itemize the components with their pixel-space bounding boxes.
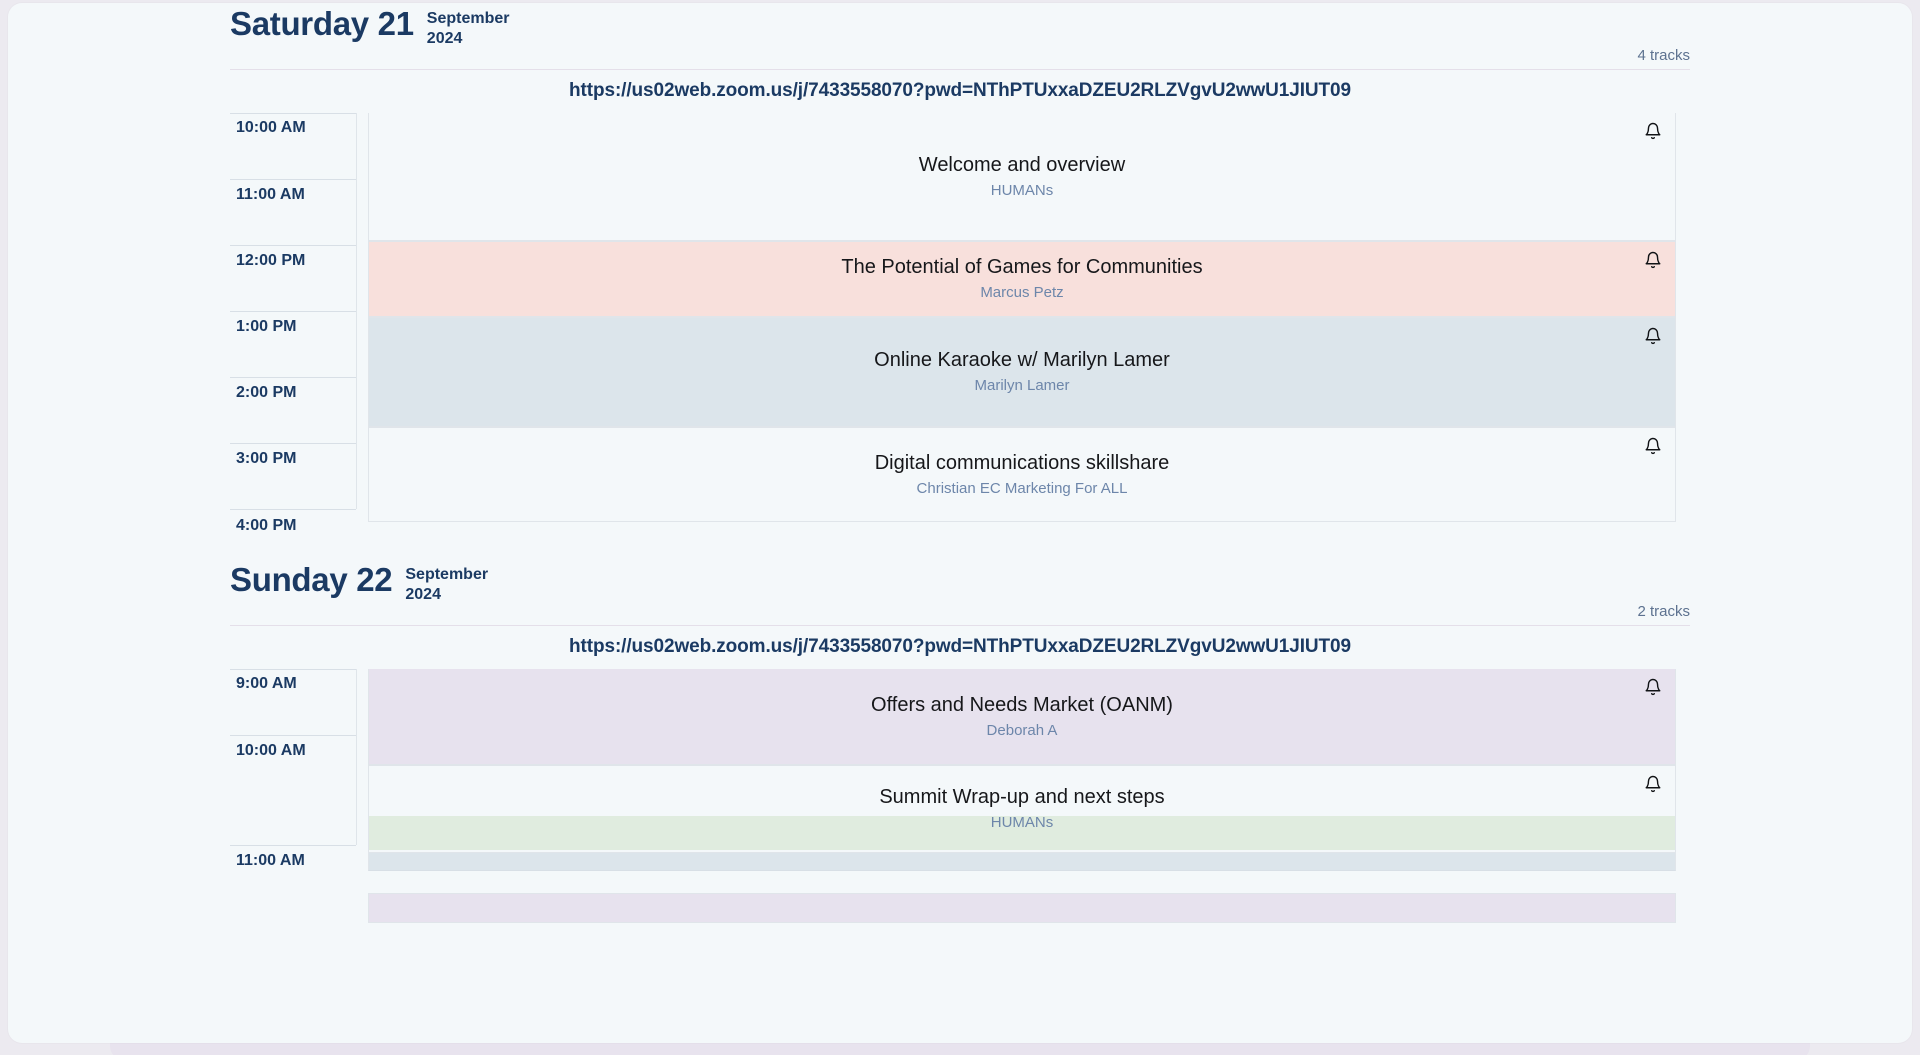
tracks-count: 4 tracks <box>1637 47 1690 64</box>
day-header: Sunday 22 September 2024 2 tracks <box>8 559 1912 627</box>
event-speaker: Marcus Petz <box>369 283 1675 303</box>
hour-rule <box>230 179 356 180</box>
event-card[interactable]: Summit Wrap-up and next steps HUMANs <box>368 765 1676 853</box>
day-month-year: September 2024 <box>405 561 488 606</box>
day-section-sunday: Sunday 22 September 2024 2 tracks https:… <box>8 559 1912 999</box>
bell-icon[interactable] <box>1644 678 1662 696</box>
bell-icon[interactable] <box>1644 122 1662 140</box>
hour-label: 11:00 AM <box>236 186 305 204</box>
day-month-year: September 2024 <box>427 5 510 50</box>
hour-rule <box>230 443 356 444</box>
day-year: 2024 <box>427 29 510 49</box>
hour-label: 12:00 PM <box>236 252 305 270</box>
blue-track-band[interactable] <box>368 853 1676 871</box>
day-month: September <box>427 9 510 29</box>
hour-rule <box>230 377 356 378</box>
grid-column-divider <box>356 669 357 845</box>
bell-icon[interactable] <box>1644 437 1662 455</box>
event-speaker: Deborah A <box>369 721 1675 741</box>
event-card[interactable]: Digital communications skillshare Christ… <box>368 427 1676 522</box>
bell-icon[interactable] <box>1644 327 1662 345</box>
hour-label: 10:00 AM <box>236 742 306 760</box>
hour-label: 2:00 PM <box>236 384 296 402</box>
zoom-meeting-link[interactable]: https://us02web.zoom.us/j/7433558070?pwd… <box>569 636 1351 657</box>
event-card[interactable]: The Potential of Games for Communities M… <box>368 241 1676 317</box>
hour-label: 9:00 AM <box>236 675 297 693</box>
hour-rule <box>230 845 356 846</box>
bell-icon[interactable] <box>1644 251 1662 269</box>
zoom-link-row: https://us02web.zoom.us/j/7433558070?pwd… <box>8 627 1912 669</box>
day-name: Saturday 21 <box>230 5 414 43</box>
day-header: Saturday 21 September 2024 4 tracks <box>8 3 1912 71</box>
event-speaker: Marilyn Lamer <box>369 376 1675 396</box>
hour-label: 10:00 AM <box>236 119 306 137</box>
lavender-track-band[interactable] <box>368 893 1676 923</box>
grid-column-divider <box>356 113 357 509</box>
event-speaker: Christian EC Marketing For ALL <box>369 479 1675 499</box>
hour-rule <box>230 245 356 246</box>
event-title: The Potential of Games for Communities <box>369 254 1675 280</box>
tracks-count: 2 tracks <box>1637 603 1690 620</box>
schedule-page: Saturday 21 September 2024 4 tracks http… <box>0 0 1920 1055</box>
day-month: September <box>405 565 488 585</box>
header-divider <box>230 625 1690 626</box>
hour-rule <box>230 509 356 510</box>
event-title: Online Karaoke w/ Marilyn Lamer <box>369 347 1675 373</box>
event-card[interactable]: Welcome and overview HUMANs <box>368 113 1676 241</box>
hour-label: 4:00 PM <box>236 517 296 535</box>
hour-rule <box>230 735 356 736</box>
zoom-meeting-link[interactable]: https://us02web.zoom.us/j/7433558070?pwd… <box>569 80 1351 101</box>
day-section-saturday: Saturday 21 September 2024 4 tracks http… <box>8 3 1912 523</box>
event-card[interactable]: Offers and Needs Market (OANM) Deborah A <box>368 669 1676 765</box>
event-title: Offers and Needs Market (OANM) <box>369 692 1675 718</box>
event-title: Digital communications skillshare <box>369 450 1675 476</box>
zoom-link-row: https://us02web.zoom.us/j/7433558070?pwd… <box>8 71 1912 113</box>
header-divider <box>230 69 1690 70</box>
hour-label: 11:00 AM <box>236 852 305 870</box>
event-card[interactable]: Online Karaoke w/ Marilyn Lamer Marilyn … <box>368 317 1676 427</box>
event-speaker: HUMANs <box>369 813 1675 833</box>
event-speaker: HUMANs <box>369 181 1675 201</box>
hour-label: 3:00 PM <box>236 450 296 468</box>
hour-rule <box>230 669 356 670</box>
day-year: 2024 <box>405 585 488 605</box>
hour-rule <box>230 311 356 312</box>
hour-label: 1:00 PM <box>236 318 296 336</box>
event-title: Welcome and overview <box>369 152 1675 178</box>
event-title: Summit Wrap-up and next steps <box>369 784 1675 810</box>
day-name: Sunday 22 <box>230 561 392 599</box>
time-grid: 9:00 AM 10:00 AM 11:00 AM <box>8 669 1912 999</box>
time-grid: 10:00 AM 11:00 AM 12:00 PM 1:00 PM 2:00 … <box>8 113 1912 523</box>
hour-rule <box>230 113 356 114</box>
schedule-sheet: Saturday 21 September 2024 4 tracks http… <box>8 3 1912 1043</box>
